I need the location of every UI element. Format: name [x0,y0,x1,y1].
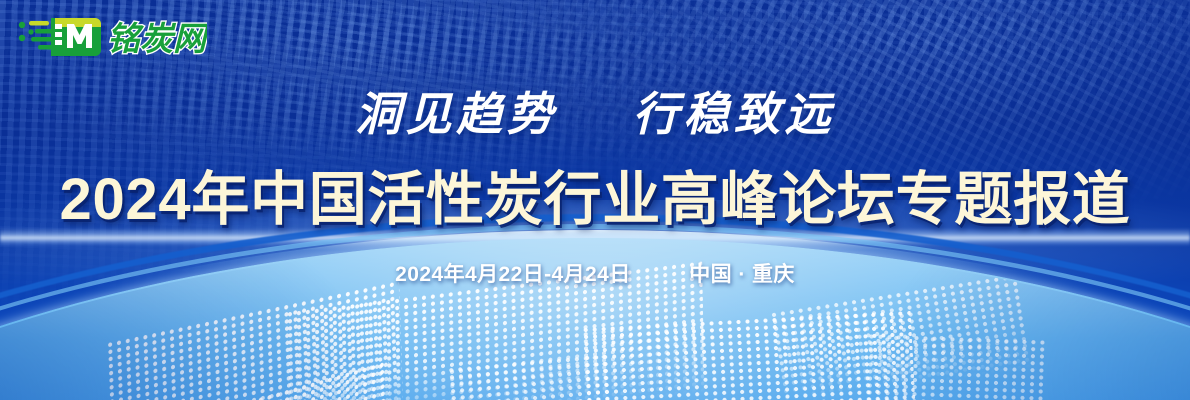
slogan-part-1: 洞见趋势 [355,78,557,144]
forum-banner: 铭炭网 洞见趋势 行稳致远 2024年中国活性炭行业高峰论坛专题报道 2024年… [0,0,1190,400]
svg-text:铭炭网: 铭炭网 [107,19,207,58]
logo-3m-mark [51,18,101,56]
calligraphy-slogan: 洞见趋势 行稳致远 [0,78,1190,144]
event-location: 中国 · 重庆 [689,263,795,286]
page-title: 2024年中国活性炭行业高峰论坛专题报道 [0,152,1190,236]
event-meta: 2024年4月22日-4月24日 中国 · 重庆 [0,258,1190,288]
globe-graphic [0,210,1190,400]
logo-brand-text: 铭炭网 [107,19,207,58]
logo-speed-dots [19,21,54,50]
event-date: 2024年4月22日-4月24日 [395,263,631,286]
slogan-part-2: 行稳致远 [633,78,835,144]
site-logo[interactable]: 铭炭网 [15,8,207,64]
